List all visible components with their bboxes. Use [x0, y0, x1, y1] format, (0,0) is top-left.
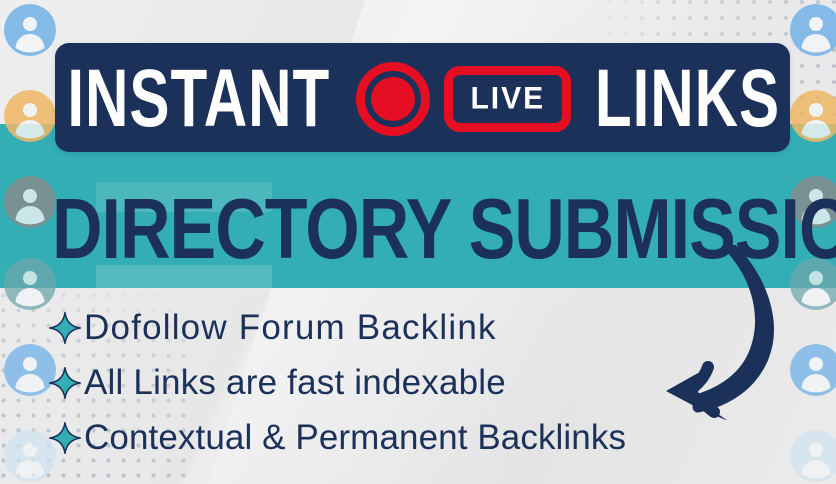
avatar-right-6	[790, 430, 836, 482]
avatar-right-2	[790, 90, 836, 142]
sparkle-icon	[48, 366, 82, 400]
headline-banner: INSTANT LIVE LINKS	[55, 43, 790, 152]
live-box: LIVE	[444, 66, 571, 132]
promo-banner-canvas: INSTANT LIVE LINKS DIRECTORY SUBMISSIONS…	[0, 0, 836, 484]
curved-arrow-icon	[636, 245, 826, 420]
avatar-left-1	[4, 4, 56, 56]
sparkle-icon	[48, 421, 82, 455]
list-item-label: Dofollow Forum Backlink	[84, 310, 497, 345]
list-item-label: Contextual & Permanent Backlinks	[84, 420, 626, 455]
avatar-left-2	[4, 90, 56, 142]
avatar-left-3	[4, 176, 56, 228]
sparkle-icon	[48, 311, 82, 345]
banner-word-instant: INSTANT	[67, 57, 330, 139]
record-dot-icon	[356, 62, 430, 136]
list-item-label: All Links are fast indexable	[84, 365, 506, 400]
live-badge: LIVE	[356, 62, 571, 136]
live-label: LIVE	[470, 83, 545, 115]
banner-word-links: LINKS	[595, 57, 780, 139]
avatar-right-1	[790, 4, 836, 56]
